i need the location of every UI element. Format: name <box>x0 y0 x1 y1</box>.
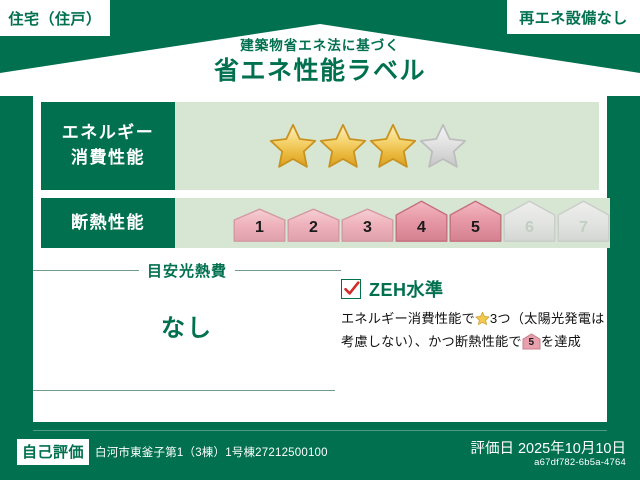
zeh-checkbox[interactable] <box>341 279 361 299</box>
house-shape-icon <box>503 200 556 242</box>
energy-performance-label: エネルギー 消費性能 <box>41 102 175 190</box>
badge-renewable-energy: 再エネ設備なし <box>507 0 640 34</box>
heading-rule-left <box>33 270 139 271</box>
zeh-heading: ZEH水準 <box>341 276 607 302</box>
insulation-grade-4: 4 <box>395 200 448 242</box>
lower-section: 目安光熱費 なし ZEH水準 エネルギー消費性能で <box>33 256 607 422</box>
house-shape-icon <box>287 208 340 242</box>
energy-label-line2: 消費性能 <box>71 146 145 171</box>
star-filled-icon <box>319 122 367 170</box>
zeh-description: エネルギー消費性能で 3つ（太陽光発電は考慮しない）、かつ断熱性能で 5 を達成 <box>341 309 607 353</box>
footer-divider <box>33 430 607 431</box>
inline-house-number: 5 <box>522 335 541 351</box>
evaluation-date-label: 評価日 <box>470 441 514 457</box>
zeh-section: ZEH水準 エネルギー消費性能で 3つ（太陽光発電は考慮しない）、かつ断熱性能で… <box>341 276 607 353</box>
star-empty-icon <box>419 122 467 170</box>
evaluation-date: 評価日 2025年10月10日 <box>470 437 626 458</box>
self-evaluation-badge: 自己評価 <box>17 439 89 465</box>
house-shape-icon <box>557 200 610 242</box>
evaluation-date-value: 2025年10月10日 <box>518 441 626 457</box>
footer: 自己評価 白河市東釜子第1（3棟）1号棟27212500100 評価日 2025… <box>0 430 640 480</box>
star-filled-icon <box>369 122 417 170</box>
energy-performance-label: 住宅（住戸） 再エネ設備なし 建築物省エネ法に基づく 省エネ性能ラベル エネルギ… <box>0 0 640 480</box>
insulation-performance-value: 1234567 <box>175 198 610 248</box>
badge-building-type: 住宅（住戸） <box>0 0 110 36</box>
heading-rule-right <box>235 270 341 271</box>
insulation-grade-5: 5 <box>449 200 502 242</box>
insulation-grade-7: 7 <box>557 200 610 242</box>
star-filled-icon <box>269 122 317 170</box>
utility-cost-heading: 目安光熱費 <box>33 260 341 281</box>
insulation-grade-1: 1 <box>233 208 286 242</box>
utility-cost-divider <box>33 390 335 391</box>
zeh-desc-part1: エネルギー消費性能で <box>341 311 475 326</box>
insulation-grade-6: 6 <box>503 200 556 242</box>
energy-performance-row: エネルギー 消費性能 <box>41 102 599 190</box>
star-rating <box>269 122 467 170</box>
house-shape-icon <box>395 200 448 242</box>
evaluation-id: a67df782-6b5a-4764 <box>534 457 626 468</box>
insulation-grade-scale: 1234567 <box>233 198 610 248</box>
insulation-performance-label: 断熱性能 <box>41 198 175 248</box>
inline-star-icon <box>475 311 490 332</box>
zeh-desc-part3: を達成 <box>541 334 581 349</box>
main-card: エネルギー 消費性能 断熱性能 1234567 目安光熱費 なし <box>33 96 607 422</box>
insulation-label-text: 断熱性能 <box>71 211 145 236</box>
insulation-performance-row: 断熱性能 1234567 <box>41 198 599 248</box>
energy-performance-value <box>175 102 599 190</box>
utility-cost-value: なし <box>33 308 341 343</box>
house-shape-icon <box>233 208 286 242</box>
inline-house-icon: 5 <box>522 333 541 350</box>
insulation-grade-2: 2 <box>287 208 340 242</box>
insulation-grade-3: 3 <box>341 208 394 242</box>
energy-label-line1: エネルギー <box>62 121 155 146</box>
utility-cost-heading-text: 目安光熱費 <box>147 260 227 281</box>
zeh-title: ZEH水準 <box>369 276 444 302</box>
house-shape-icon <box>449 200 502 242</box>
property-address: 白河市東釜子第1（3棟）1号棟27212500100 <box>95 444 328 460</box>
house-shape-icon <box>341 208 394 242</box>
